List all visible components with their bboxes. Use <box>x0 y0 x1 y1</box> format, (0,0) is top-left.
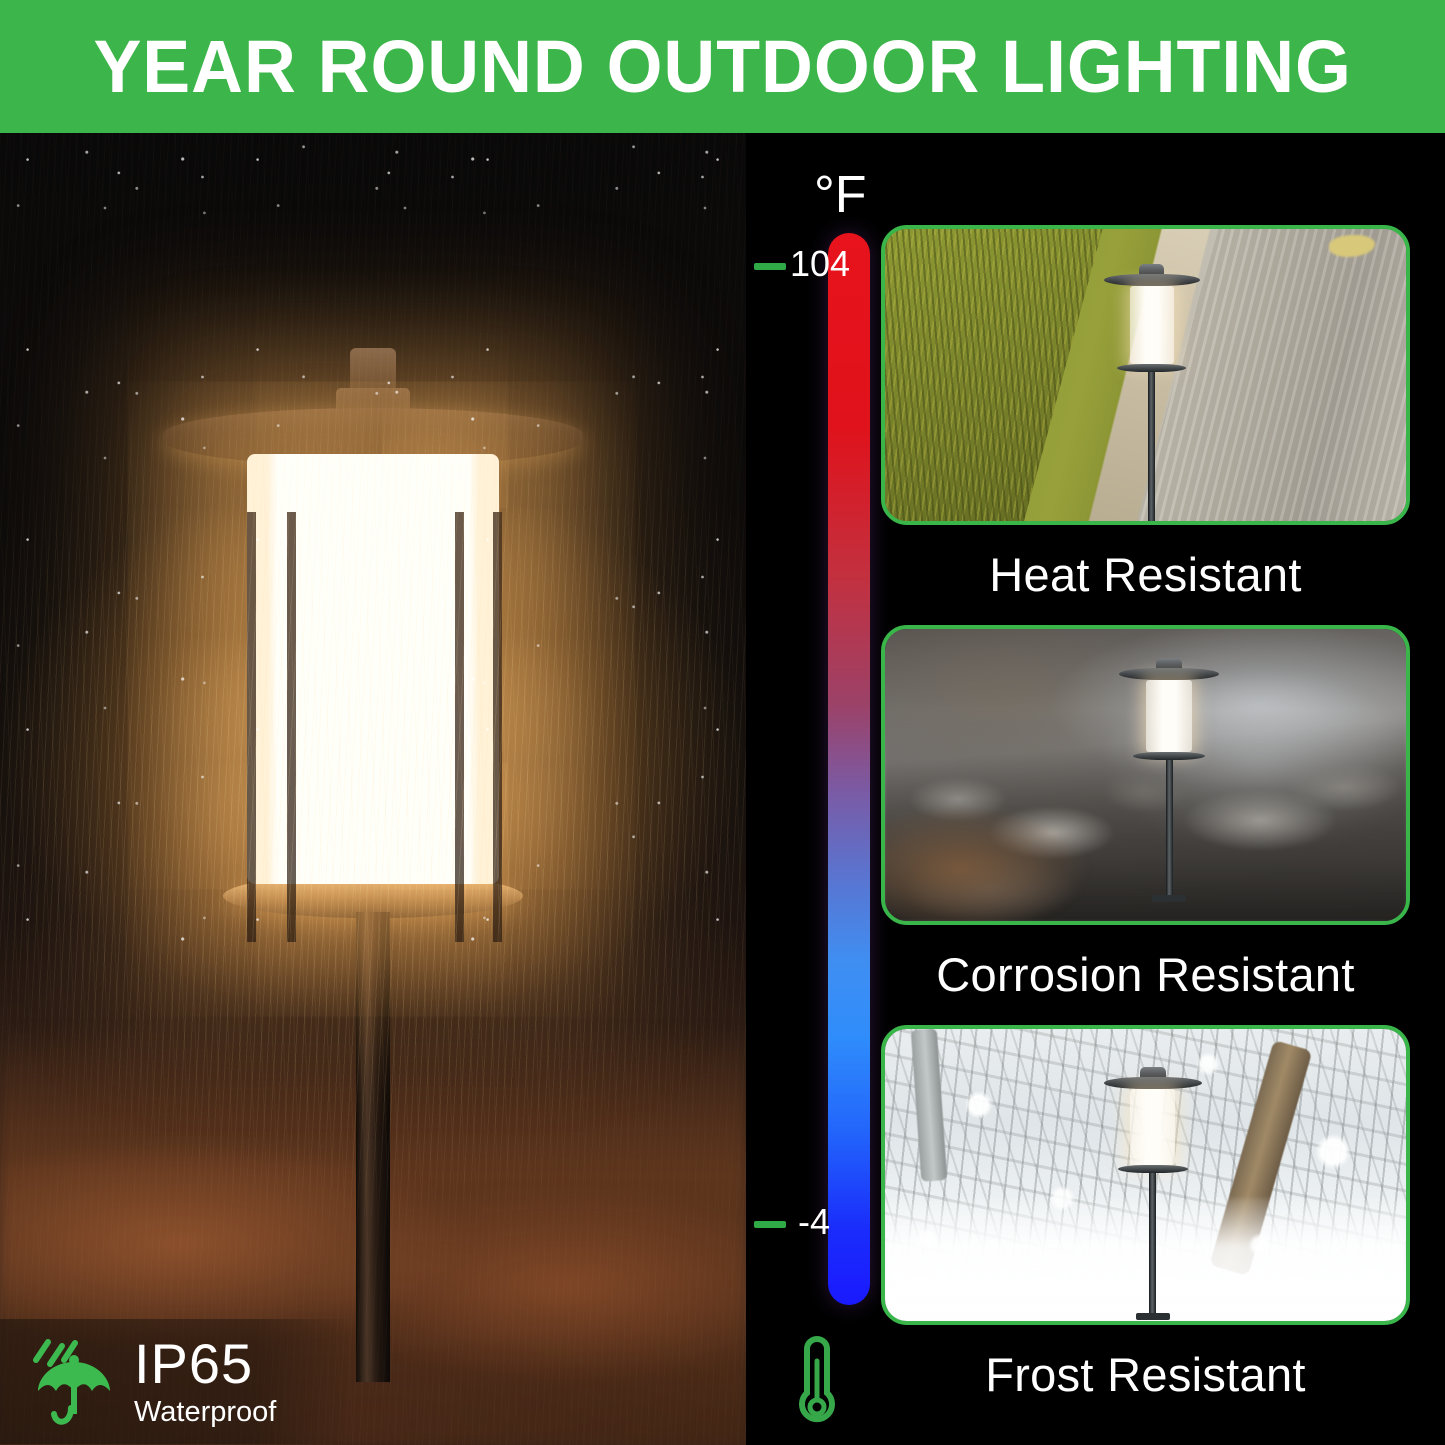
hero-rain-photo: IP65 Waterproof <box>0 133 746 1445</box>
lamp-diffuser <box>1146 680 1192 752</box>
tick-mark-low <box>754 1221 786 1228</box>
lamp-post <box>1148 372 1155 522</box>
brown-dirt <box>881 798 1104 925</box>
lamp-plate <box>1117 364 1186 372</box>
temperature-gradient-bar <box>828 233 870 1305</box>
corrosion-resistant-photo <box>881 625 1410 925</box>
temperature-unit-label: °F <box>814 165 867 225</box>
umbrella-rain-icon <box>28 1334 120 1430</box>
temperature-high-label: 104 <box>790 243 850 285</box>
lamp-post <box>1166 760 1173 895</box>
header-banner: YEAR ROUND OUTDOOR LIGHTING <box>0 0 1445 133</box>
path-light-in-heat-scene <box>1104 264 1200 522</box>
water-droplets <box>0 133 746 946</box>
feature-caption-corrosion: Corrosion Resistant <box>881 947 1410 1002</box>
lamp-cap <box>1119 668 1219 680</box>
temperature-scale: °F 104 -4 <box>746 133 881 1445</box>
temperature-low-label: -4 <box>798 1201 830 1243</box>
feature-caption-frost: Frost Resistant <box>881 1347 1410 1402</box>
ip65-rating: IP65 <box>134 1336 253 1392</box>
feature-caption-heat: Heat Resistant <box>881 547 1410 602</box>
ip65-waterproof-badge: IP65 Waterproof <box>0 1319 352 1444</box>
ground-spike <box>1152 895 1186 902</box>
lamp-plate <box>1133 752 1205 760</box>
path-light-in-corrosion-scene <box>1119 658 1219 902</box>
feature-card-corrosion[interactable]: Corrosion Resistant <box>881 625 1410 1002</box>
frost-resistant-photo <box>881 1025 1410 1325</box>
lamp-diffuser <box>1130 286 1174 364</box>
frost-scene <box>885 1029 1406 1321</box>
ip65-text-group: IP65 Waterproof <box>134 1336 276 1427</box>
feature-card-heat[interactable]: Heat Resistant <box>881 225 1410 602</box>
page-title: YEAR ROUND OUTDOOR LIGHTING <box>93 24 1351 109</box>
right-panel: °F 104 -4 <box>746 133 1445 1445</box>
heat-scene <box>885 229 1406 521</box>
heat-resistant-photo <box>881 225 1410 525</box>
falling-snowflakes <box>885 1029 1406 1321</box>
tick-mark-high <box>754 263 786 270</box>
feature-card-list: Heat Resistant <box>881 133 1445 1445</box>
waterproof-label: Waterproof <box>134 1398 276 1427</box>
corrosion-scene <box>885 629 1406 921</box>
product-infographic: YEAR ROUND OUTDOOR LIGHTING <box>0 0 1445 1445</box>
thermometer-icon <box>790 1333 844 1429</box>
feature-card-frost[interactable]: Frost Resistant <box>881 1025 1410 1402</box>
lamp-cap <box>1104 274 1200 286</box>
